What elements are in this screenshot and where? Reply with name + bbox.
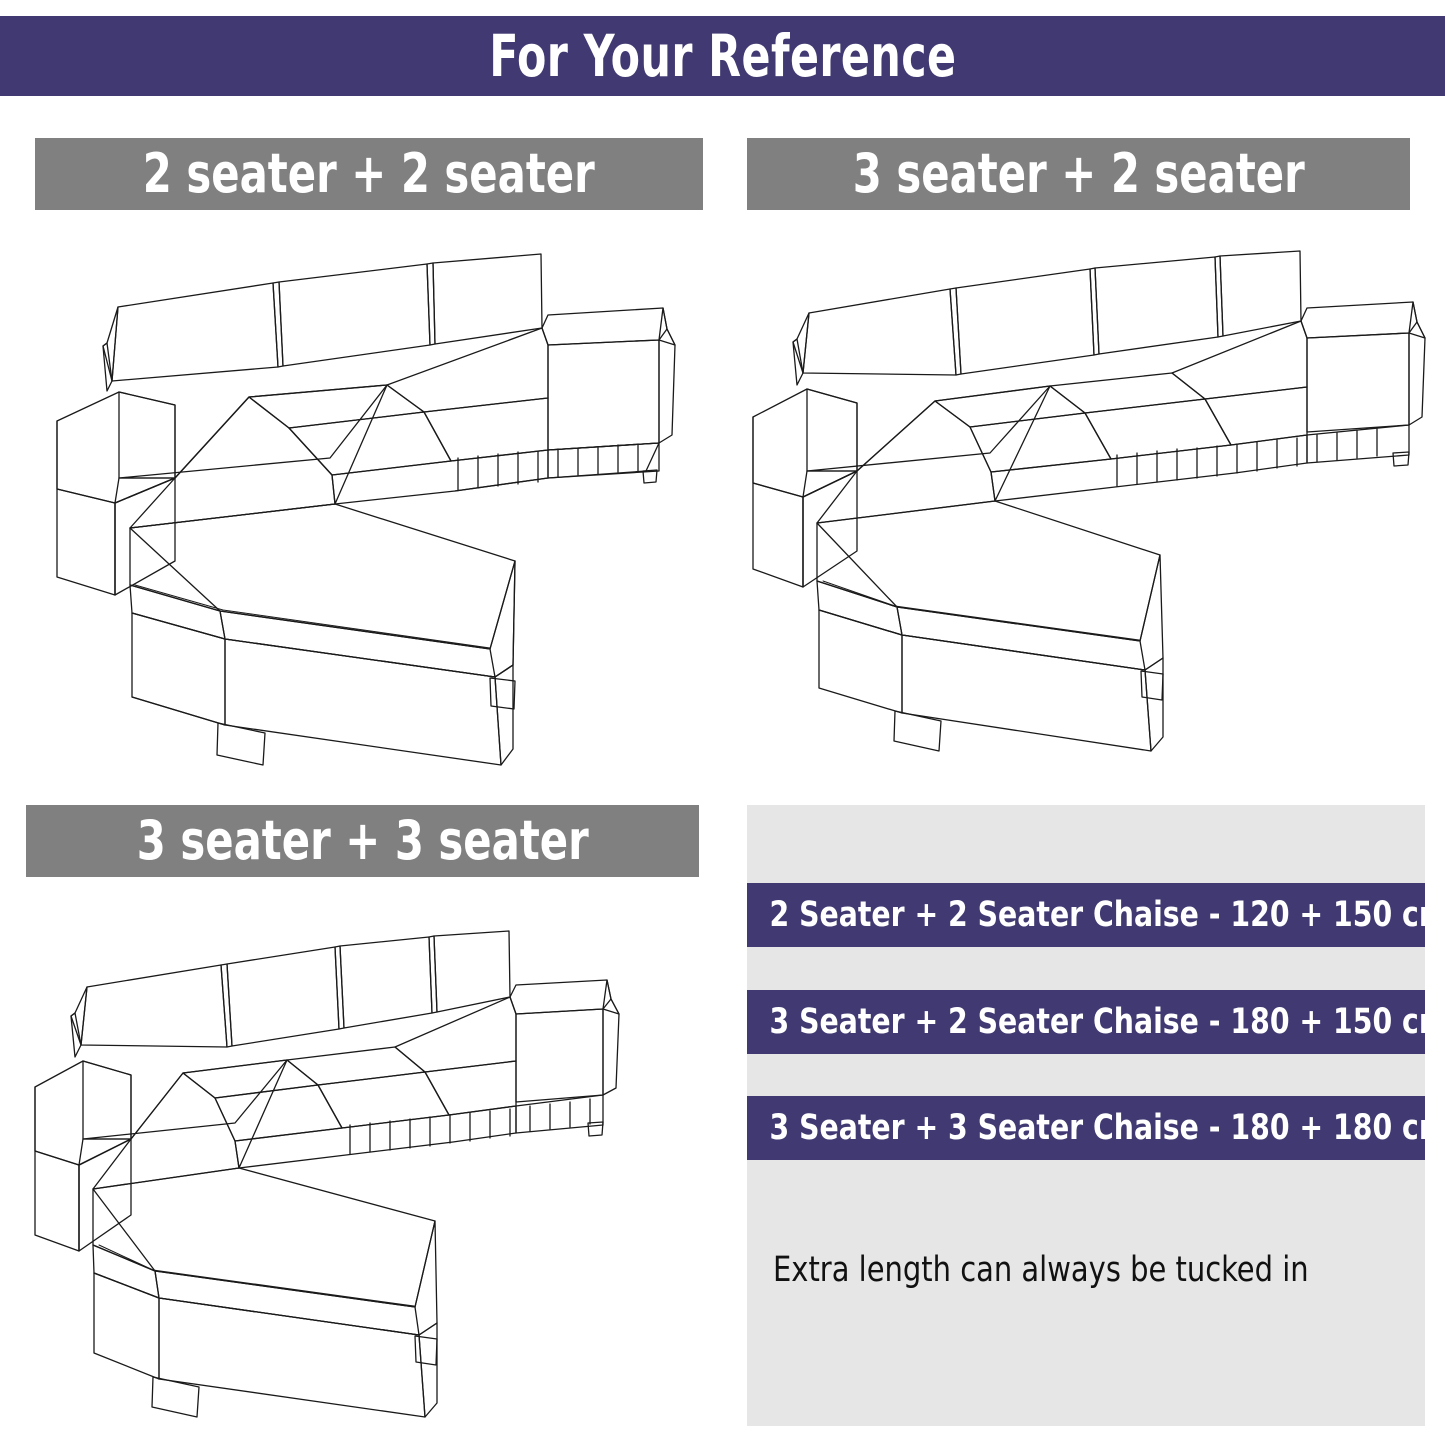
tuck-in-note: Extra length can always be tucked in [773, 1253, 1362, 1288]
size-label-3plus2: 3 Seater + 2 Seater Chaise - 180 + 150 c… [747, 1005, 1445, 1040]
size-band-3plus2: 3 Seater + 2 Seater Chaise - 180 + 150 c… [747, 990, 1425, 1054]
caption-label-3plus3: 3 seater + 3 seater [137, 814, 589, 868]
header-bar: For Your Reference [0, 16, 1445, 96]
caption-label-3plus2: 3 seater + 2 seater [853, 147, 1305, 201]
sectional-sofa-3plus2-icon [745, 245, 1435, 770]
size-band-3plus3: 3 Seater + 3 Seater Chaise - 180 + 180 c… [747, 1096, 1425, 1160]
reference-size-chart-page: For Your Reference 2 seater + 2 seater 3… [0, 0, 1445, 1445]
size-label-2plus2: 2 Seater + 2 Seater Chaise - 120 + 150 c… [747, 898, 1445, 933]
page-title: For Your Reference [489, 22, 956, 90]
caption-bar-3plus3: 3 seater + 3 seater [26, 805, 699, 877]
size-info-panel: 2 Seater + 2 Seater Chaise - 120 + 150 c… [747, 805, 1425, 1426]
sectional-sofa-3plus3-icon [25, 925, 697, 1437]
sectional-sofa-2plus2-icon [35, 245, 715, 790]
caption-label-2plus2: 2 seater + 2 seater [143, 147, 595, 201]
caption-bar-2plus2: 2 seater + 2 seater [35, 138, 703, 210]
caption-bar-3plus2: 3 seater + 2 seater [747, 138, 1410, 210]
size-label-3plus3: 3 Seater + 3 Seater Chaise - 180 + 180 c… [747, 1111, 1445, 1146]
size-band-2plus2: 2 Seater + 2 Seater Chaise - 120 + 150 c… [747, 883, 1425, 947]
